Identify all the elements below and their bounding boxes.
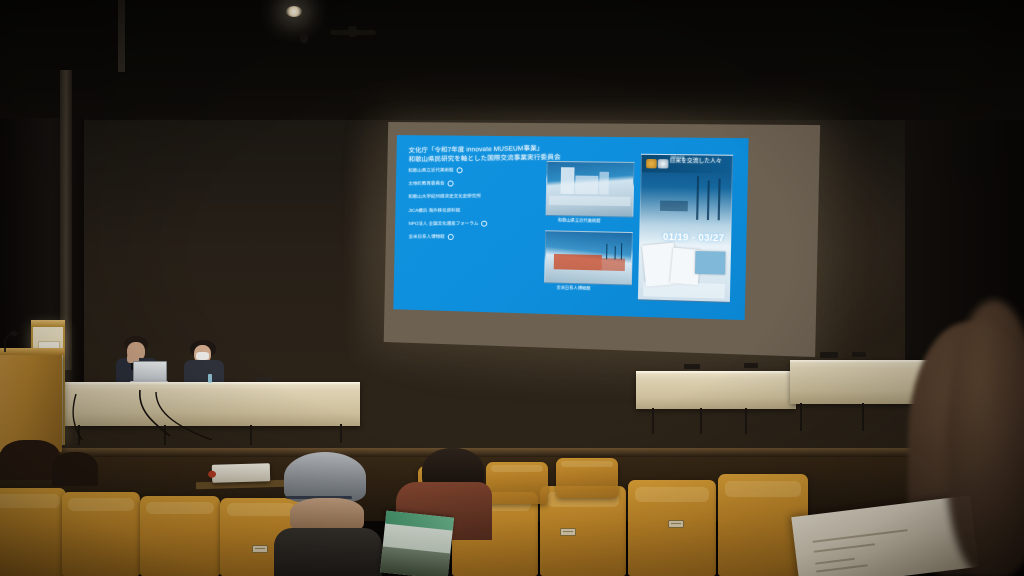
audience-seat bbox=[62, 492, 140, 576]
poster-title: 日米を交流した人々 bbox=[669, 158, 729, 165]
seat-number-plate bbox=[252, 545, 268, 553]
audience-seat bbox=[0, 488, 66, 576]
slide-photo-caption-top: 和歌山県立近代美術館 bbox=[558, 217, 601, 224]
stage-edge bbox=[0, 448, 1024, 457]
table-item bbox=[852, 352, 866, 357]
table-item bbox=[744, 363, 758, 368]
slide-photo-museum bbox=[546, 161, 635, 218]
list-item: 太地町教育委員会 bbox=[408, 180, 538, 187]
bullet-label: 和歌山大学紀州経済史文化史研究所 bbox=[408, 194, 481, 201]
audience-seat bbox=[140, 496, 220, 576]
audience-cap-person bbox=[272, 452, 392, 576]
audience-seat-back-row bbox=[556, 458, 618, 498]
projector-lens-icon bbox=[208, 471, 216, 478]
poster-logo-icon bbox=[658, 159, 669, 168]
lighting-fixture bbox=[348, 26, 357, 37]
bullet-label: JICA横浜 海外移住資料館 bbox=[408, 207, 460, 213]
lighting-fixture bbox=[300, 34, 308, 43]
audience-seat bbox=[628, 480, 716, 576]
bullet-label: 太地町教育委員会 bbox=[408, 181, 444, 187]
audience-silhouette bbox=[0, 440, 60, 480]
green-pamphlet bbox=[380, 511, 454, 576]
bullet-label: NPO法人 全国文化遺産フォーラム bbox=[408, 220, 478, 226]
list-item: 和歌山大学紀州経済史文化史研究所 bbox=[408, 193, 538, 200]
slide-photo-janm bbox=[544, 230, 633, 285]
list-item: 全米日系人博物館 bbox=[409, 234, 539, 240]
list-item: JICA横浜 海外移住資料館 bbox=[408, 207, 538, 214]
stage-cables bbox=[60, 384, 360, 446]
table-item bbox=[684, 364, 700, 369]
table-item bbox=[255, 377, 273, 381]
lectern bbox=[0, 352, 62, 452]
slide-photo-caption-bottom: 全米日系人博物館 bbox=[556, 285, 590, 292]
stage-spotlight bbox=[286, 6, 302, 17]
bullet-label: 全米日系人博物館 bbox=[409, 234, 445, 240]
seat-number-plate bbox=[560, 528, 576, 536]
circle-marker-icon bbox=[448, 234, 454, 240]
circle-marker-icon bbox=[481, 220, 487, 226]
bullet-label: 和歌山県立近代美術館 bbox=[408, 167, 453, 174]
table-item bbox=[820, 352, 838, 358]
face-mask bbox=[196, 352, 209, 360]
presentation-slide: 文化庁「令和7年度 innovate MUSEUM事業」 和歌山県民研究を軸とし… bbox=[393, 135, 748, 320]
auditorium-scene: 文化庁「令和7年度 innovate MUSEUM事業」 和歌山県民研究を軸とし… bbox=[0, 0, 1024, 576]
water-bottle bbox=[208, 374, 212, 383]
poster-logo-icon bbox=[646, 158, 657, 167]
podium-microphone bbox=[2, 330, 24, 354]
ceiling-beam bbox=[118, 0, 125, 72]
audience-silhouette bbox=[52, 452, 98, 486]
circle-marker-icon bbox=[448, 181, 454, 187]
poster-dates: 01/19 ◦ 03/27 bbox=[658, 232, 729, 244]
seat-number-plate bbox=[668, 520, 684, 528]
list-item: 和歌山県立近代美術館 bbox=[408, 166, 538, 174]
audience-seat bbox=[540, 486, 626, 576]
slide-exhibition-poster: 国際交流展 日米を交流した人々 01/19 ◦ 03/27 bbox=[638, 154, 733, 303]
projection-screen: 文化庁「令和7年度 innovate MUSEUM事業」 和歌山県民研究を軸とし… bbox=[384, 122, 820, 357]
list-item: NPO法人 全国文化遺産フォーラム bbox=[408, 220, 538, 227]
circle-marker-icon bbox=[457, 167, 463, 173]
projector bbox=[212, 463, 270, 483]
slide-partner-list: 和歌山県立近代美術館 太地町教育委員会 和歌山大学紀州経済史文化史研究所 JIC… bbox=[408, 166, 538, 247]
stage-table-right-1 bbox=[636, 371, 796, 409]
